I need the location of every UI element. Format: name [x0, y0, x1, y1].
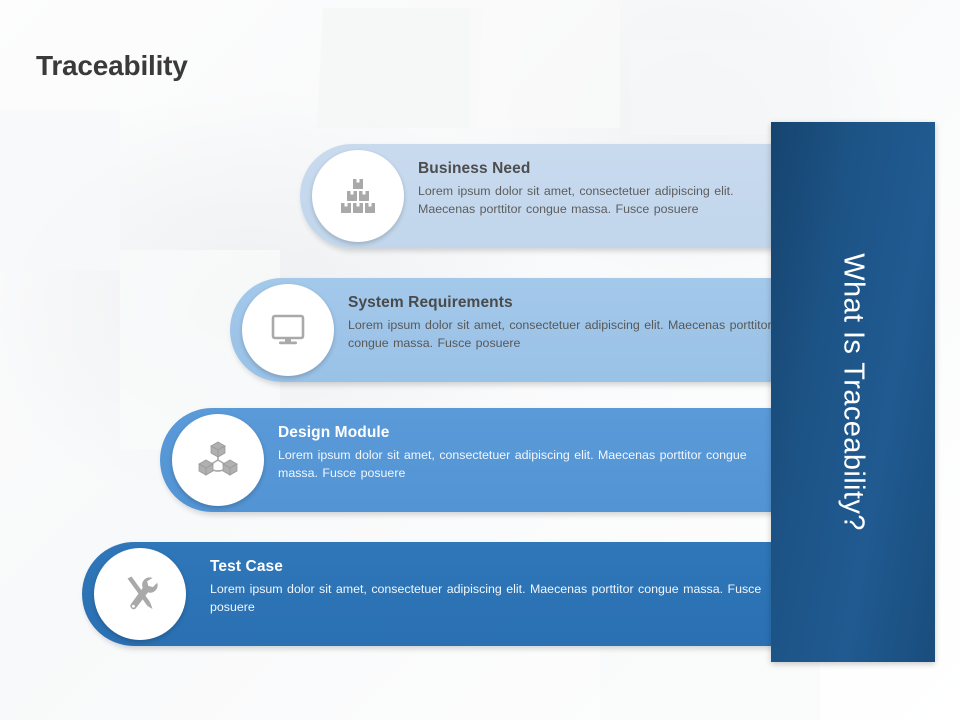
- step-text: Business Need Lorem ipsum dolor sit amet…: [418, 160, 788, 218]
- step-body: Lorem ipsum dolor sit amet, consectetuer…: [278, 447, 778, 482]
- step-icon-circle: [242, 284, 334, 376]
- step-text: Test Case Lorem ipsum dolor sit amet, co…: [210, 558, 790, 616]
- step-body: Lorem ipsum dolor sit amet, consectetuer…: [210, 581, 790, 616]
- step-icon-circle: [312, 150, 404, 242]
- process-step-system-requirements[interactable]: System Requirements Lorem ipsum dolor si…: [230, 278, 790, 382]
- connected-cubes-icon: [195, 438, 241, 482]
- step-body: Lorem ipsum dolor sit amet, consectetuer…: [418, 183, 788, 218]
- tools-icon: [117, 572, 163, 616]
- step-body: Lorem ipsum dolor sit amet, consectetuer…: [348, 317, 788, 352]
- background-shape: [470, 0, 620, 128]
- process-step-test-case[interactable]: Test Case Lorem ipsum dolor sit amet, co…: [82, 542, 790, 646]
- background-shape: [317, 8, 483, 128]
- process-step-business-need[interactable]: Business Need Lorem ipsum dolor sit amet…: [300, 144, 790, 248]
- background-shape: [0, 110, 120, 270]
- step-text: Design Module Lorem ipsum dolor sit amet…: [278, 424, 778, 482]
- side-panel-label: What Is Traceability?: [837, 253, 870, 531]
- process-step-design-module[interactable]: Design Module Lorem ipsum dolor sit amet…: [160, 408, 790, 512]
- page-title: Traceability: [36, 50, 188, 82]
- background-shape: [630, 40, 830, 135]
- step-icon-circle: [94, 548, 186, 640]
- step-heading: Design Module: [278, 424, 778, 442]
- side-panel: What Is Traceability?: [771, 122, 935, 662]
- monitor-icon: [266, 310, 310, 350]
- step-icon-circle: [172, 414, 264, 506]
- step-heading: System Requirements: [348, 294, 788, 312]
- step-heading: Test Case: [210, 558, 790, 576]
- step-heading: Business Need: [418, 160, 788, 178]
- step-text: System Requirements Lorem ipsum dolor si…: [348, 294, 788, 352]
- stacked-boxes-icon: [336, 176, 380, 216]
- slide-canvas: Traceability: [0, 0, 960, 720]
